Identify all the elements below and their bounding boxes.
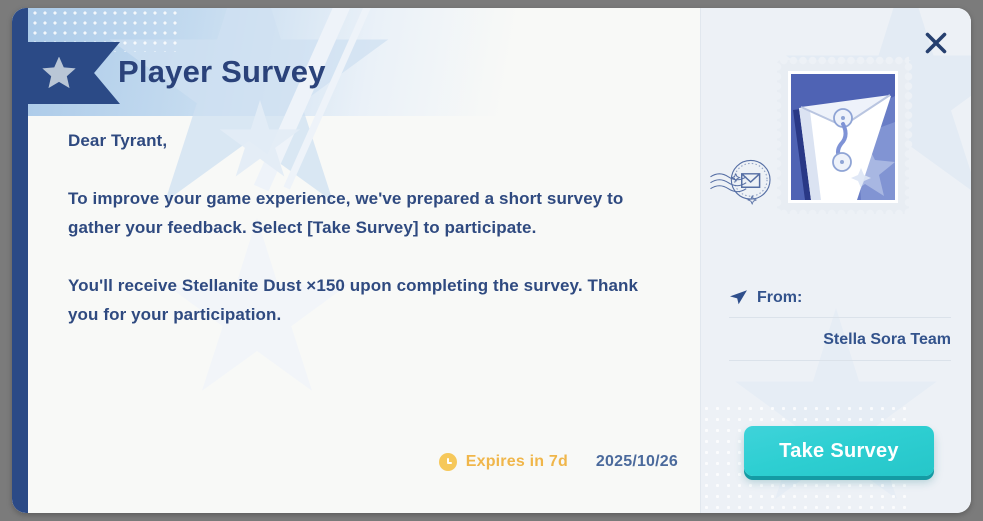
close-icon — [923, 30, 949, 56]
stamp-artwork — [791, 74, 895, 200]
from-label: From: — [757, 289, 802, 307]
letter-paragraph-intro: To improve your game experience, we've p… — [68, 184, 668, 242]
from-header: From: — [729, 288, 951, 318]
envelope-artwork-icon — [791, 74, 895, 200]
star-icon — [42, 57, 76, 90]
clock-icon — [439, 453, 457, 471]
page-title: Player Survey — [118, 54, 326, 90]
expiry-text: Expires in 7d — [466, 453, 568, 471]
mail-detail-card: Player Survey Dear Tyrant, To improve yo… — [12, 8, 971, 513]
close-button[interactable] — [917, 24, 955, 62]
letter-panel: Player Survey Dear Tyrant, To improve yo… — [12, 8, 700, 513]
stamp-inner-border — [788, 71, 898, 203]
from-value: Stella Sora Team — [823, 331, 951, 348]
postage-stamp-illustration — [777, 60, 909, 214]
expiry-row: Expires in 7d 2025/10/26 — [439, 453, 678, 471]
letter-paragraph-reward: You'll receive Stellanite Dust ×150 upon… — [68, 271, 668, 329]
take-survey-button[interactable]: Take Survey — [744, 426, 934, 476]
postmark-icon — [709, 150, 773, 214]
letter-paragraph-salutation: Dear Tyrant, — [68, 126, 668, 155]
from-value-row: Stella Sora Team — [729, 318, 951, 361]
expiry-date: 2025/10/26 — [596, 453, 678, 471]
from-block: From: Stella Sora Team — [729, 288, 951, 361]
paper-plane-icon — [729, 288, 748, 307]
meta-panel: From: Stella Sora Team Take Survey — [700, 8, 971, 513]
letter-body: Dear Tyrant, To improve your game experi… — [68, 126, 668, 329]
card-left-spine — [12, 8, 28, 513]
